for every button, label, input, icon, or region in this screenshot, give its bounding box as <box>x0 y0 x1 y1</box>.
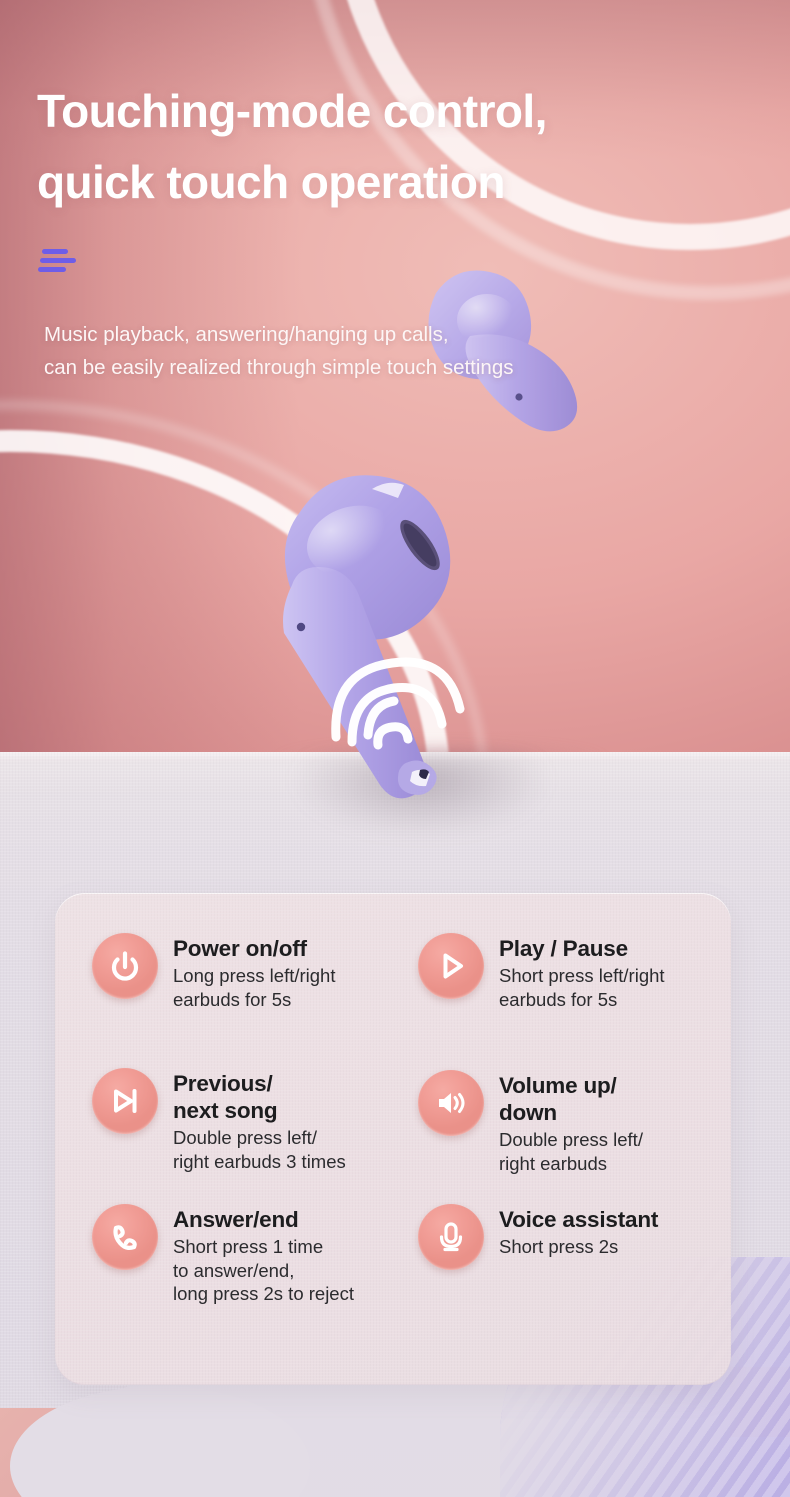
page-subtitle-line-1: Music playback, answering/hanging up cal… <box>44 318 704 351</box>
feature-title: Power on/off <box>173 935 335 962</box>
phone-icon <box>92 1204 158 1270</box>
feature-description: Short press left/right earbuds for 5s <box>499 964 665 1011</box>
page-title-line-2: quick touch operation <box>37 147 737 218</box>
power-icon <box>92 933 158 999</box>
feature-item-call: Answer/end Short press 1 time to answer/… <box>92 1204 412 1305</box>
feature-text: Answer/end Short press 1 time to answer/… <box>173 1204 354 1305</box>
accent-bars-decoration <box>38 249 94 279</box>
feature-text: Volume up/ down Double press left/ right… <box>499 1070 643 1175</box>
feature-item-track-skip: Previous/ next song Double press left/ r… <box>92 1068 412 1173</box>
feature-text: Play / Pause Short press left/right earb… <box>499 933 665 1011</box>
feature-title: Answer/end <box>173 1206 354 1233</box>
volume-icon <box>418 1070 484 1136</box>
feature-item-voice-assistant: Voice assistant Short press 2s <box>418 1204 718 1270</box>
accent-bar-3 <box>38 267 66 272</box>
feature-text: Voice assistant Short press 2s <box>499 1204 658 1259</box>
feature-description: Short press 1 time to answer/end, long p… <box>173 1235 354 1305</box>
accent-bar-1 <box>42 249 68 254</box>
feature-item-power: Power on/off Long press left/right earbu… <box>92 933 412 1011</box>
earbud-front <box>283 475 450 798</box>
feature-text: Power on/off Long press left/right earbu… <box>173 933 335 1011</box>
page-subtitle-line-2: can be easily realized through simple to… <box>44 351 704 384</box>
feature-description: Long press left/right earbuds for 5s <box>173 964 335 1011</box>
microphone-icon <box>418 1204 484 1270</box>
page-title-line-1: Touching-mode control, <box>37 85 547 137</box>
feature-title: Previous/ next song <box>173 1070 346 1124</box>
page-subtitle: Music playback, answering/hanging up cal… <box>44 318 704 384</box>
feature-item-volume: Volume up/ down Double press left/ right… <box>418 1070 718 1175</box>
skip-next-icon <box>92 1068 158 1134</box>
accent-bar-2 <box>40 258 76 263</box>
feature-description: Short press 2s <box>499 1235 658 1258</box>
feature-title: Voice assistant <box>499 1206 658 1233</box>
feature-text: Previous/ next song Double press left/ r… <box>173 1068 346 1173</box>
feature-title: Play / Pause <box>499 935 665 962</box>
feature-title: Volume up/ down <box>499 1072 643 1126</box>
feature-description: Double press left/ right earbuds 3 times <box>173 1126 346 1173</box>
page-title: Touching-mode control, quick touch opera… <box>37 76 737 218</box>
touch-controls-card: Power on/off Long press left/right earbu… <box>55 893 731 1385</box>
play-icon <box>418 933 484 999</box>
product-feature-page: Touching-mode control, quick touch opera… <box>0 0 790 1497</box>
feature-item-play-pause: Play / Pause Short press left/right earb… <box>418 933 718 1011</box>
feature-description: Double press left/ right earbuds <box>499 1128 643 1175</box>
